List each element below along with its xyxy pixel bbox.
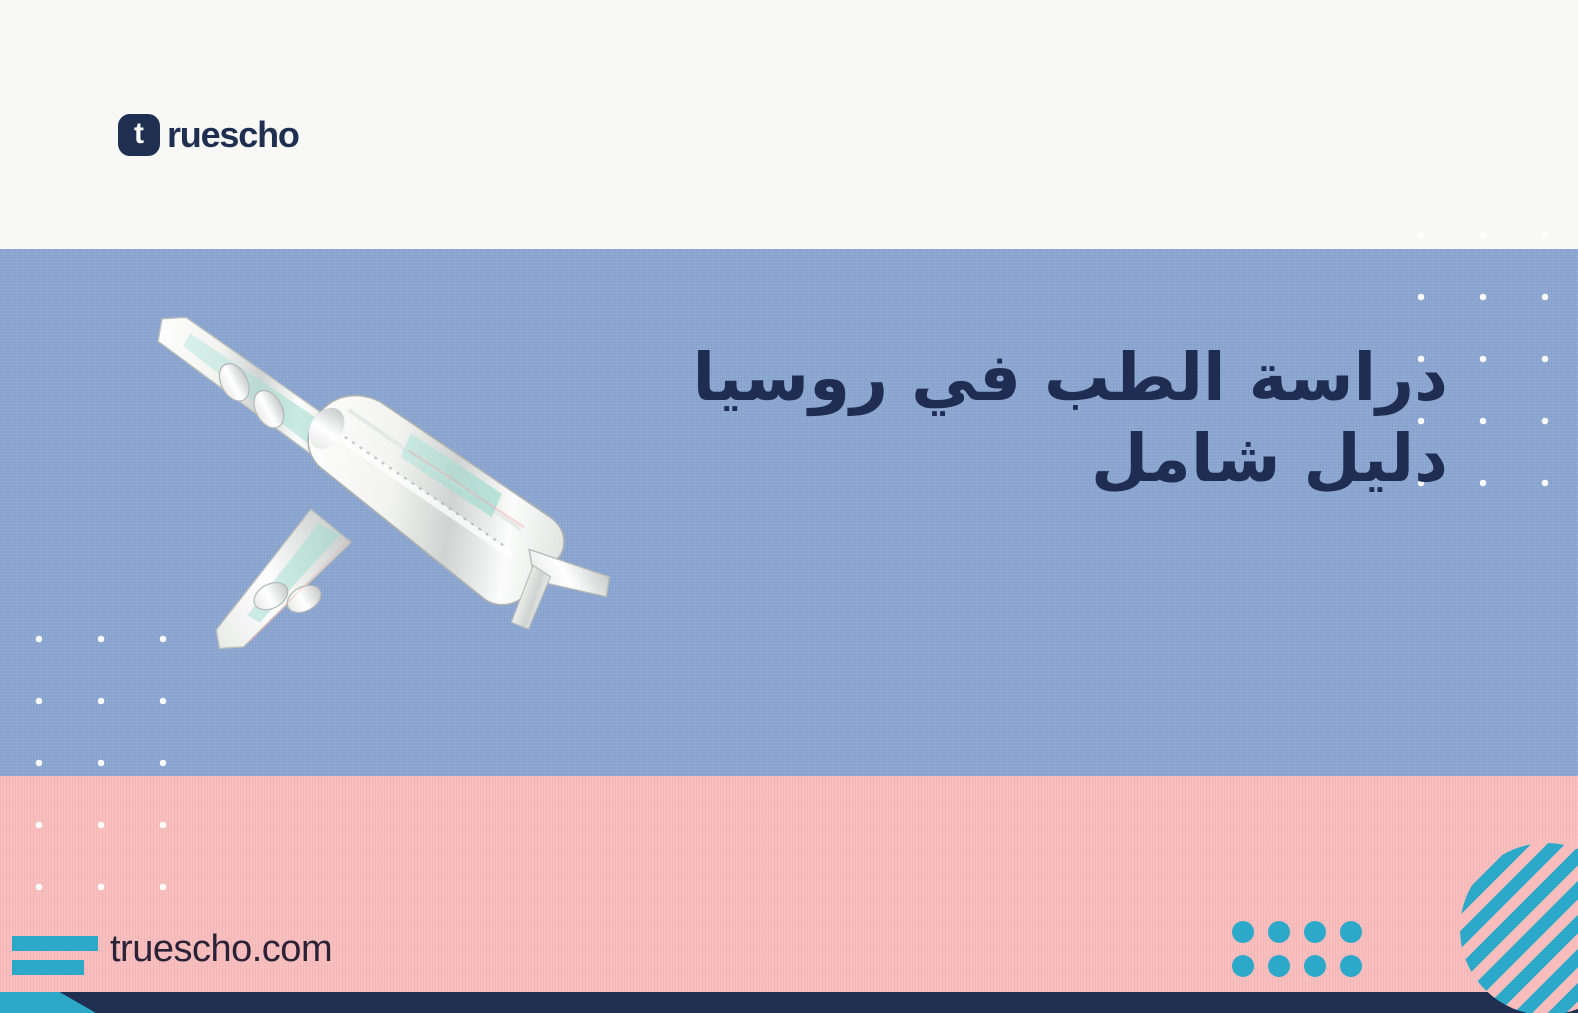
- footer-bar-top: [12, 936, 98, 951]
- title-line-2: دليل شامل: [688, 419, 1448, 500]
- teal-dot-grid-icon: [1232, 921, 1376, 989]
- logo-mark-icon: t: [118, 114, 160, 156]
- footer-url[interactable]: truescho.com: [110, 928, 332, 971]
- teal-dot: [1268, 921, 1290, 943]
- title-line-1: دراسة الطب في روسيا: [688, 338, 1448, 419]
- airplane-image: [118, 218, 548, 718]
- footer-bars-icon: [12, 932, 98, 980]
- teal-dot: [1232, 921, 1254, 943]
- teal-dot: [1304, 955, 1326, 977]
- footer-bar-bottom: [12, 960, 84, 975]
- brand-logo[interactable]: t ruescho: [118, 114, 299, 156]
- teal-dot: [1232, 955, 1254, 977]
- teal-dot: [1340, 921, 1362, 943]
- teal-dot: [1340, 955, 1362, 977]
- band-navy: [0, 992, 1578, 1013]
- logo-wordmark: ruescho: [167, 114, 299, 156]
- poster-canvas: دراسة الطب في روسيا دليل شامل t ruescho …: [0, 0, 1578, 1013]
- teal-dot: [1268, 955, 1290, 977]
- teal-dot: [1304, 921, 1326, 943]
- banner-title: دراسة الطب في روسيا دليل شامل: [688, 338, 1448, 499]
